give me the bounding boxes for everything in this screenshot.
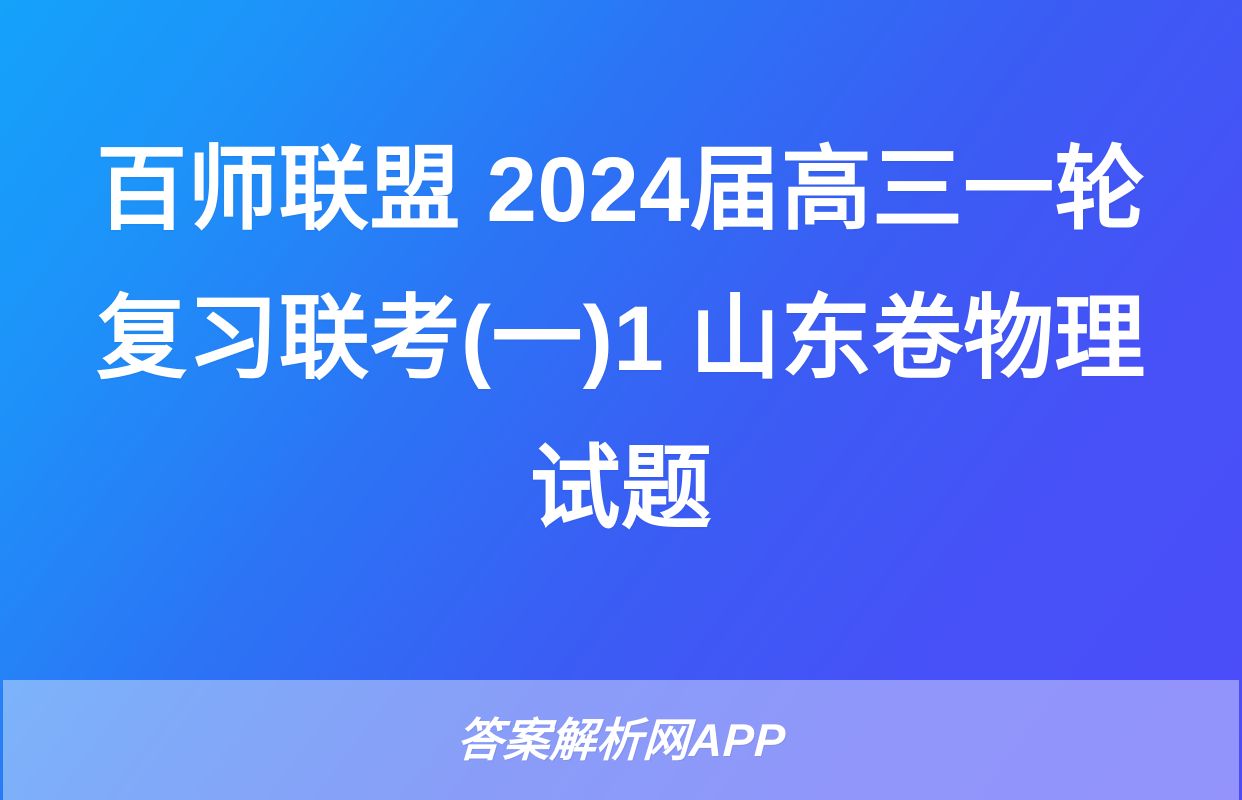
page-title: 百师联盟 2024届高三一轮复习联考(一)1 山东卷物理试题: [86, 116, 1156, 563]
watermark-band: 答案解析网APP: [3, 680, 1239, 800]
title-block: 百师联盟 2024届高三一轮复习联考(一)1 山东卷物理试题: [0, 0, 1242, 680]
exam-paper-cover: 百师联盟 2024届高三一轮复习联考(一)1 山东卷物理试题 答案解析网APP: [0, 0, 1242, 800]
app-watermark-label: 答案解析网APP: [455, 717, 786, 763]
